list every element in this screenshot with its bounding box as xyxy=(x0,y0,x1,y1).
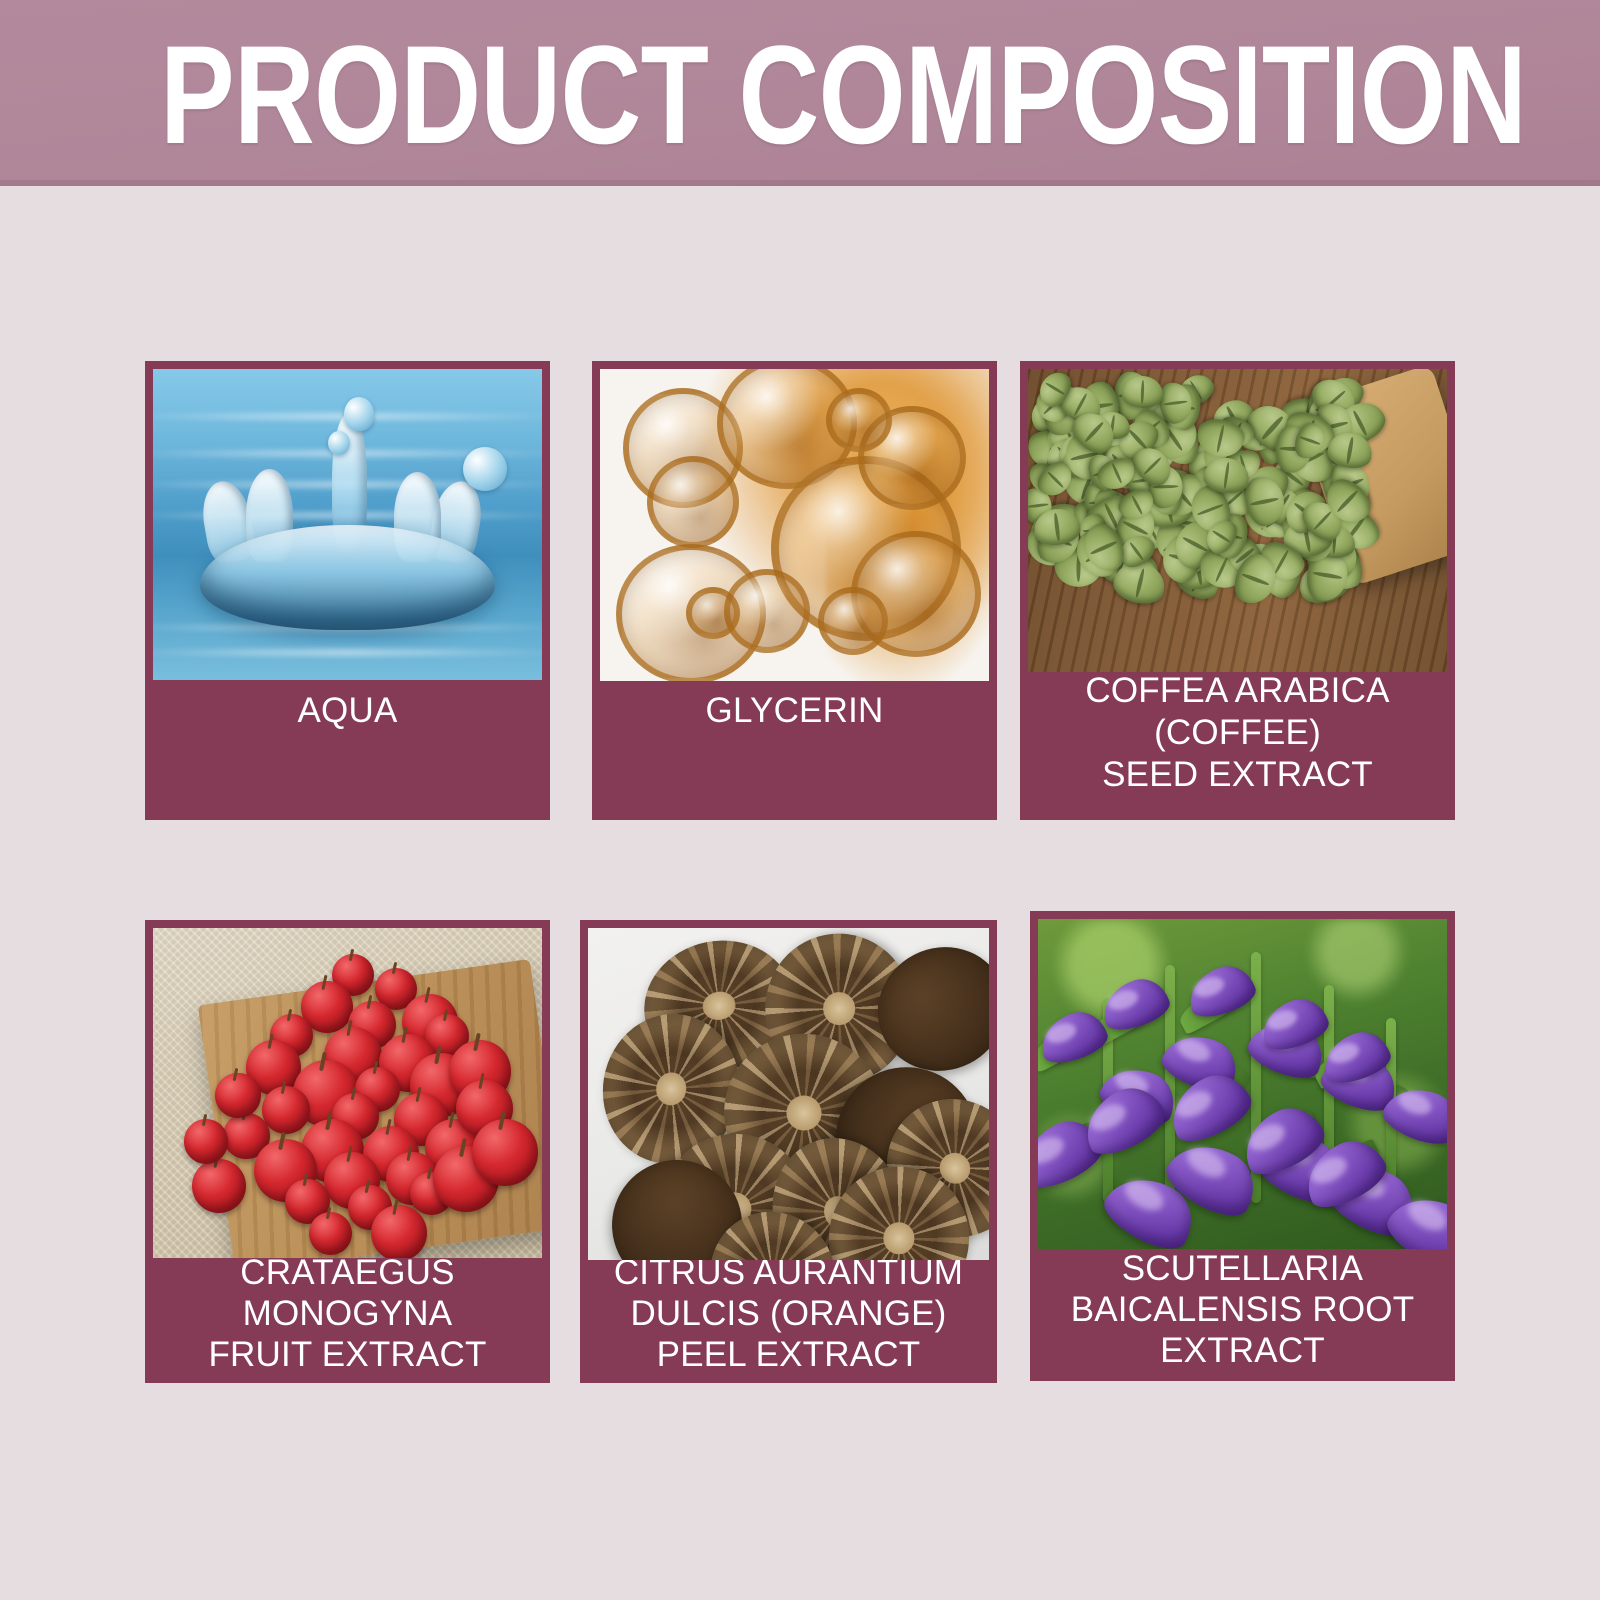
ingredient-image-frame xyxy=(588,928,989,1260)
ingredient-card-glycerin[interactable]: GLYCERIN xyxy=(592,361,997,820)
ingredient-image-frame xyxy=(1028,369,1447,672)
dried-orange-slices-photo xyxy=(588,928,989,1260)
ingredient-caption: CRATAEGUS MONOGYNA FRUIT EXTRACT xyxy=(153,1252,542,1375)
ingredient-image-frame xyxy=(600,369,989,681)
page-header: PRODUCT COMPOSITION xyxy=(0,0,1600,186)
ingredient-card-aqua[interactable]: AQUA xyxy=(145,361,550,820)
scutellaria-flowers-photo xyxy=(1038,919,1447,1249)
hawthorn-berry xyxy=(192,1159,246,1213)
ingredient-caption: COFFEA ARABICA (COFFEE) SEED EXTRACT xyxy=(1028,670,1447,796)
green-coffee-beans-photo xyxy=(1028,369,1447,672)
dried-orange-slice xyxy=(827,1165,970,1260)
ingredient-caption: GLYCERIN xyxy=(600,690,989,732)
hawthorn-berry xyxy=(472,1119,538,1185)
ingredient-caption: SCUTELLARIA BAICALENSIS ROOT EXTRACT xyxy=(1038,1248,1447,1371)
oil-bubbles-photo xyxy=(600,369,989,681)
ingredient-card-crataegus-monogyna[interactable]: CRATAEGUS MONOGYNA FRUIT EXTRACT xyxy=(145,920,550,1383)
hawthorn-berry xyxy=(184,1119,228,1163)
hawthorn-berry xyxy=(309,1212,352,1255)
hawthorn-berries-photo xyxy=(153,928,542,1258)
ingredient-image-frame xyxy=(153,928,542,1258)
ingredient-card-scutellaria-baicalensis[interactable]: SCUTELLARIA BAICALENSIS ROOT EXTRACT xyxy=(1030,911,1455,1381)
hawthorn-berry xyxy=(262,1086,310,1134)
page-title: PRODUCT COMPOSITION xyxy=(160,20,1440,170)
ingredient-caption: AQUA xyxy=(153,690,542,732)
coffee-bean xyxy=(1121,375,1164,409)
ingredient-image-frame xyxy=(153,369,542,680)
hawthorn-berry xyxy=(371,1205,427,1258)
water-splash-photo xyxy=(153,369,542,680)
ingredient-caption: CITRUS AURANTIUM DULCIS (ORANGE) PEEL EX… xyxy=(588,1252,989,1375)
ingredient-card-coffea-arabica[interactable]: COFFEA ARABICA (COFFEE) SEED EXTRACT xyxy=(1020,361,1455,820)
ingredient-card-citrus-aurantium-dulcis[interactable]: CITRUS AURANTIUM DULCIS (ORANGE) PEEL EX… xyxy=(580,920,997,1383)
hawthorn-berry xyxy=(215,1073,260,1118)
ingredient-image-frame xyxy=(1038,919,1447,1249)
